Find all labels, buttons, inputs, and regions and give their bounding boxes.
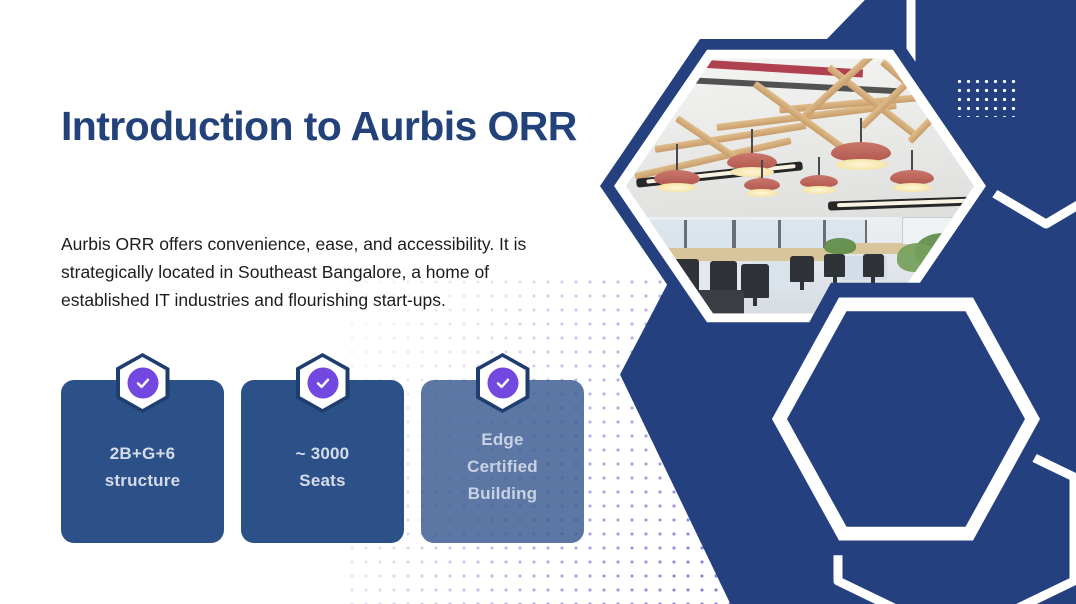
feature-card-structure[interactable]: 2B+G+6 structure <box>61 380 224 543</box>
feature-card-line-2: Seats <box>296 467 350 494</box>
feature-card-line-3: Building <box>467 480 538 507</box>
feature-card-label: 2B+G+6 structure <box>105 440 181 494</box>
feature-card-line-1: 2B+G+6 <box>105 440 181 467</box>
feature-card-line-1: ~ 3000 <box>296 440 350 467</box>
intro-paragraph: Aurbis ORR offers convenience, ease, and… <box>61 230 551 314</box>
check-circle-icon <box>476 353 530 413</box>
check-circle-icon <box>296 353 350 413</box>
check-circle-icon <box>116 353 170 413</box>
hexagon-outline-large <box>756 280 1056 558</box>
feature-card-line-1: Edge <box>467 426 538 453</box>
feature-card-line-2: structure <box>105 467 181 494</box>
feature-card-line-2: Certified <box>467 453 538 480</box>
feature-card-label: ~ 3000 Seats <box>296 440 350 494</box>
feature-card-seats[interactable]: ~ 3000 Seats <box>241 380 404 543</box>
feature-card-edge-certified[interactable]: Edge Certified Building <box>421 380 584 543</box>
feature-card-label: Edge Certified Building <box>467 426 538 507</box>
page-title: Introduction to Aurbis ORR <box>61 103 577 150</box>
feature-card-list: 2B+G+6 structure ~ 3000 Seats <box>61 380 584 543</box>
slide-canvas: Introduction to Aurbis ORR Aurbis ORR of… <box>0 0 1076 604</box>
